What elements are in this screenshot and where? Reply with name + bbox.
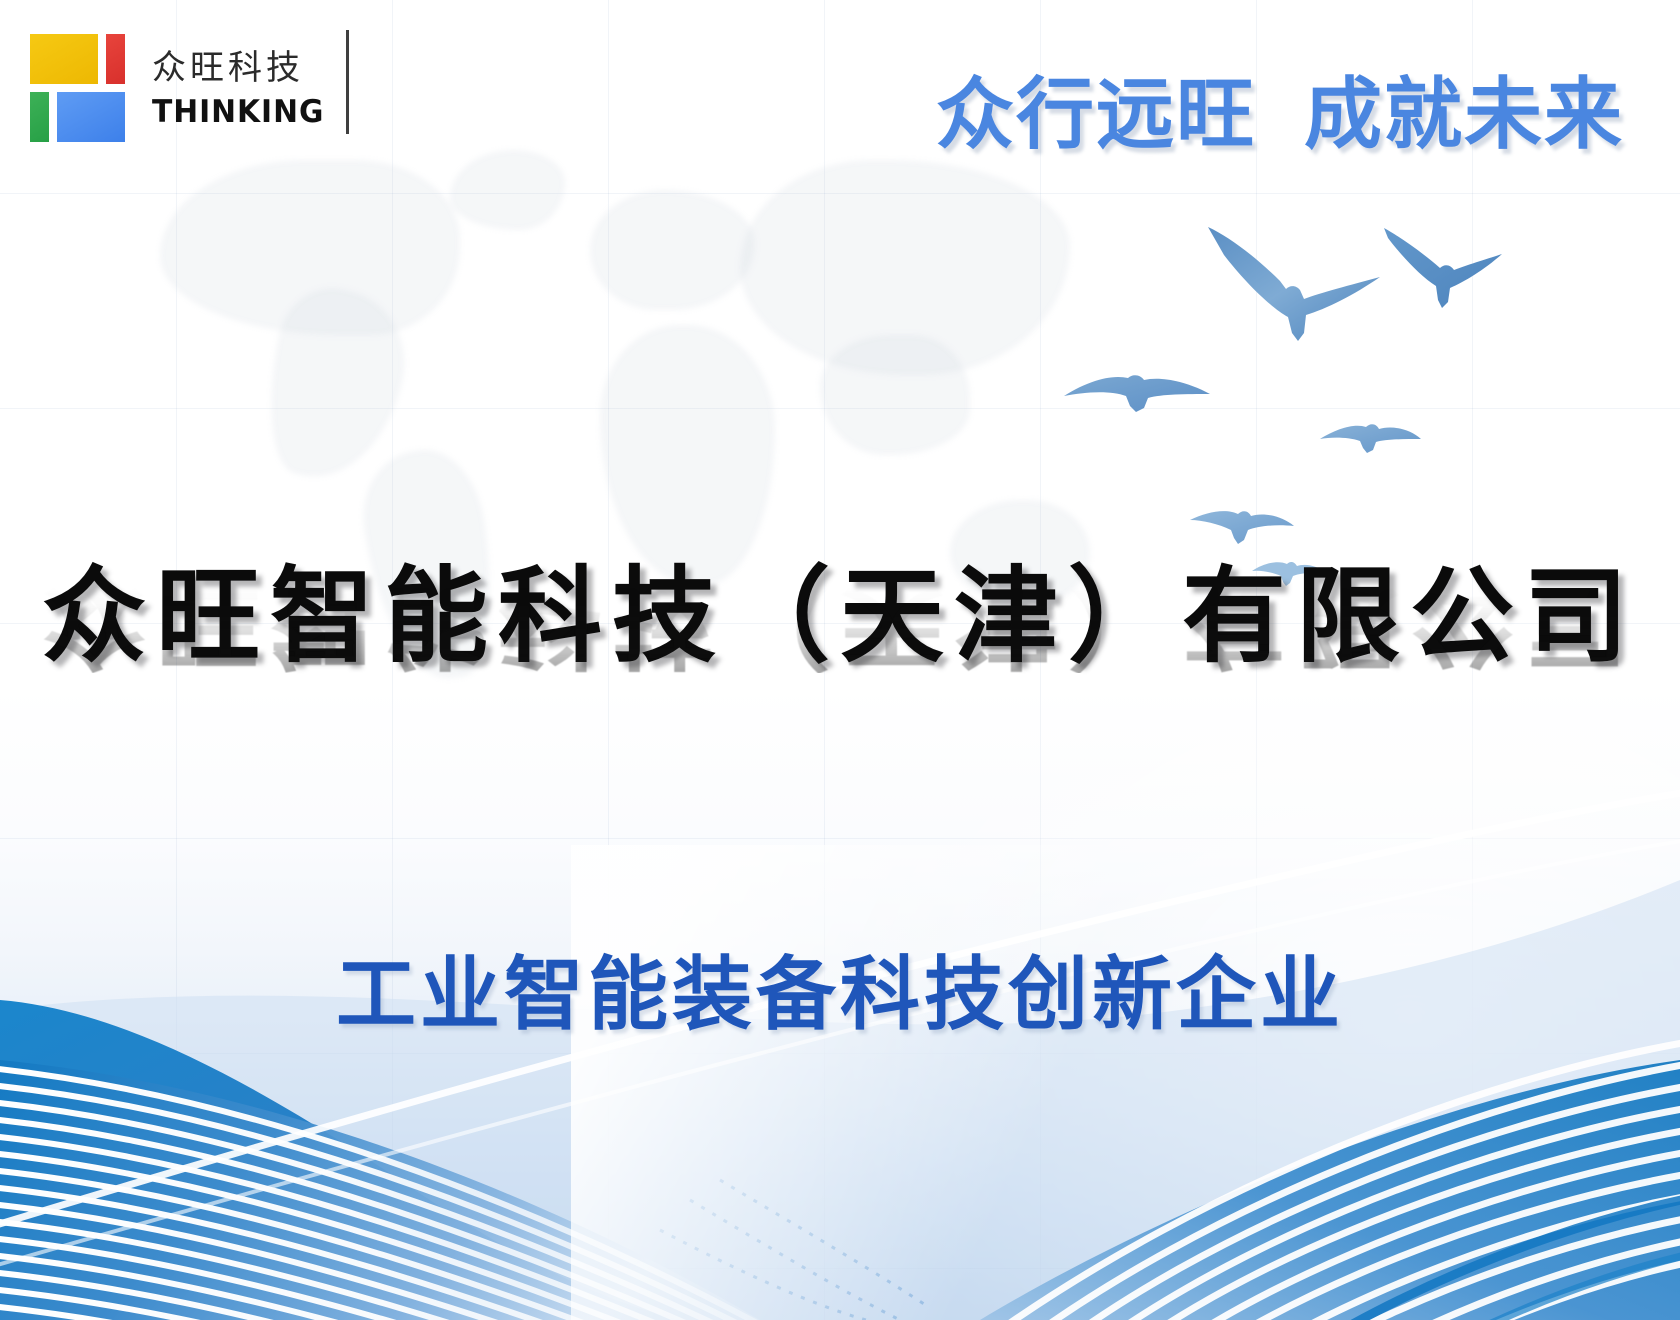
logo-mark-icon bbox=[24, 22, 134, 142]
slogan-part-1: 众行远旺 bbox=[936, 70, 1256, 160]
logo-chinese-name: 众旺科技 bbox=[152, 48, 332, 89]
logo-yellow-block bbox=[30, 34, 98, 84]
logo-blue-block bbox=[57, 92, 125, 142]
logo-wordmark: 众旺科技 THINKING bbox=[152, 30, 349, 134]
page-title: 众旺智能科技（天津）有限公司 bbox=[0, 562, 1680, 671]
logo-green-block bbox=[30, 92, 49, 142]
slogan-part-2: 成就未来 bbox=[1304, 70, 1624, 160]
company-logo[interactable]: 众旺科技 THINKING bbox=[24, 22, 349, 142]
presentation-slide: 众旺科技 THINKING 众行远旺成就未来 众旺智能科技（天津）有限公司 众旺… bbox=[0, 0, 1680, 1320]
logo-red-block bbox=[106, 34, 125, 84]
company-slogan: 众行远旺成就未来 bbox=[936, 52, 1624, 164]
logo-english-name: THINKING bbox=[152, 95, 324, 131]
page-subtitle: 工业智能装备科技创新企业 bbox=[0, 930, 1680, 1046]
title-block: 众旺智能科技（天津）有限公司 众旺智能科技（天津）有限公司 bbox=[0, 562, 1680, 782]
